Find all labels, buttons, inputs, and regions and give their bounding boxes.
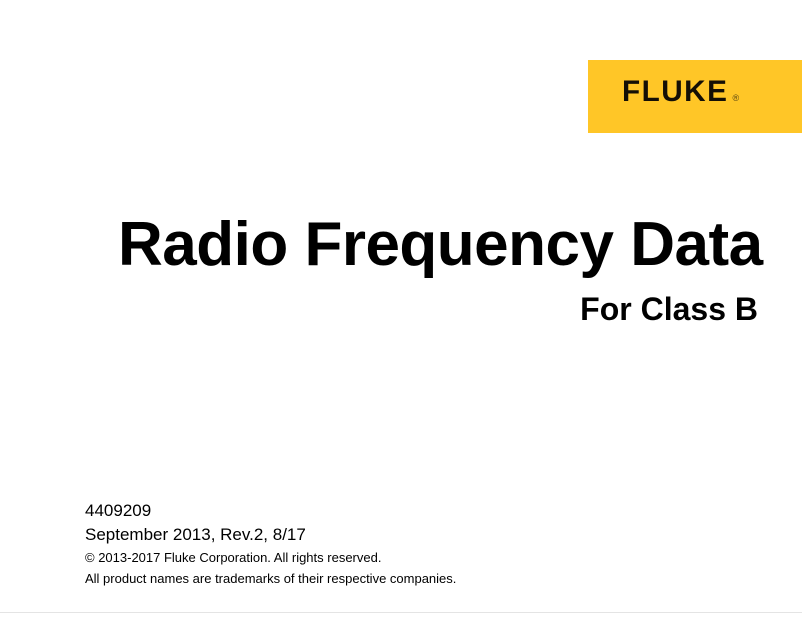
page-subtitle: For Class B (118, 292, 758, 326)
fluke-wordmark: FLUKE ® (622, 79, 739, 104)
fluke-wordmark-text: FLUKE (622, 79, 728, 104)
fluke-logo: FLUKE ® (588, 60, 802, 133)
imprint-block: 4409209 September 2013, Rev.2, 8/17 © 20… (85, 499, 705, 589)
title-area: Radio Frequency Data For Class B (118, 212, 758, 326)
revision-date: September 2013, Rev.2, 8/17 (85, 523, 705, 547)
trademark-notice: All product names are trademarks of thei… (85, 568, 705, 589)
bottom-divider (0, 612, 802, 613)
page-title: Radio Frequency Data (118, 212, 758, 278)
copyright-notice: © 2013-2017 Fluke Corporation. All right… (85, 547, 705, 568)
document-cover-page: FLUKE ® Radio Frequency Data For Class B… (0, 0, 802, 620)
registered-trademark-icon: ® (733, 94, 740, 103)
document-number: 4409209 (85, 499, 705, 523)
